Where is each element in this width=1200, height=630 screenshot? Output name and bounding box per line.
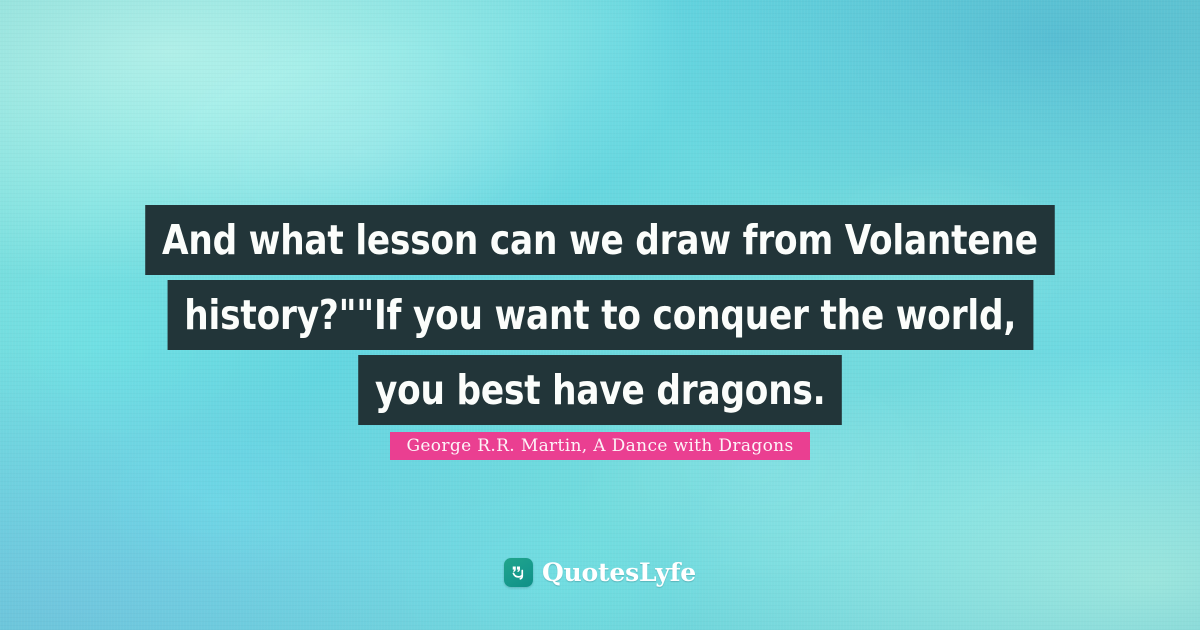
- quote-image-card: And what lesson can we draw from Volante…: [0, 0, 1200, 630]
- quote-text-block: And what lesson can we draw from Volante…: [0, 205, 1200, 430]
- quote-attribution: George R.R. Martin, A Dance with Dragons: [390, 432, 809, 460]
- quote-line-2: history?""If you want to conquer the wor…: [167, 280, 1032, 350]
- attribution-bar: George R.R. Martin, A Dance with Dragons: [0, 432, 1200, 460]
- brand-name: QuotesLyfe: [542, 558, 696, 587]
- quote-line-3: you best have dragons.: [358, 355, 842, 425]
- brand-footer[interactable]: QuotesLyfe: [0, 558, 1200, 587]
- quote-line-1: And what lesson can we draw from Volante…: [145, 205, 1054, 275]
- quote-smiley-icon: [504, 558, 533, 587]
